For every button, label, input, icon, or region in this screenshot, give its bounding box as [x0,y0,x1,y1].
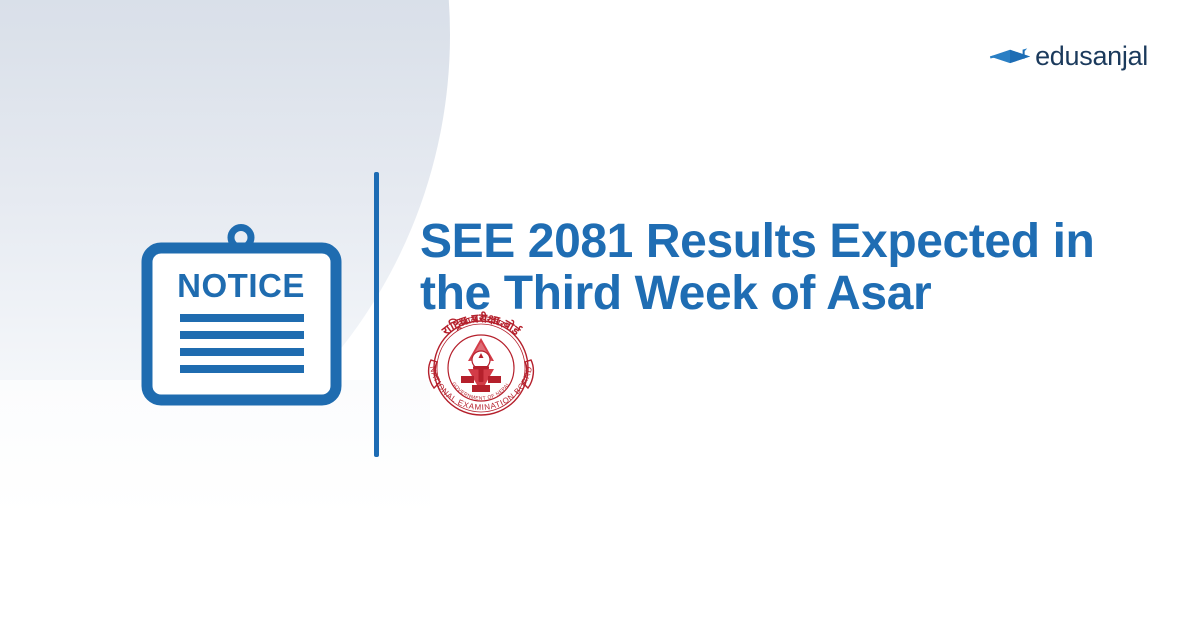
vertical-divider [374,172,379,457]
neb-seal-logo: नेपाल सरकार राष्ट्रिय परीक्षा बोर्ड GOVE… [414,296,548,422]
graduation-cap-icon [988,41,1032,71]
notice-board-icon: NOTICE [140,224,345,406]
brand-logo[interactable]: edusanjal [988,38,1148,74]
background-arc-fade [0,380,430,630]
banner-canvas: edusanjal NOTICE SEE 2081 Results Expect… [0,0,1200,630]
brand-logo-text: edusanjal [1035,43,1148,70]
notice-icon-label: NOTICE [177,267,305,304]
